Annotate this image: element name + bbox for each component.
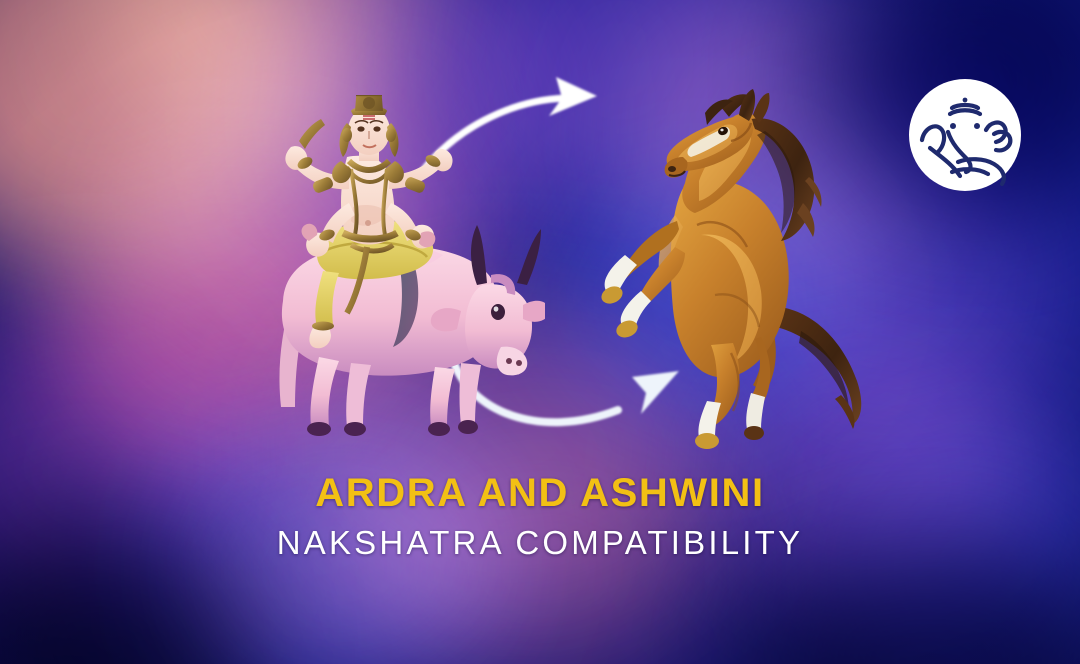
rudra-shiva-on-nandi-bull — [255, 95, 545, 445]
bull-hooves — [307, 420, 478, 436]
nakshatra-compatibility-banner: ARDRA AND ASHWINI NAKSHATRA COMPATIBILIT… — [0, 0, 1080, 664]
title-block: ARDRA AND ASHWINI NAKSHATRA COMPATIBILIT… — [0, 472, 1080, 561]
page-subtitle: NAKSHATRA COMPATIBILITY — [0, 526, 1080, 561]
rearing-horse — [565, 85, 885, 455]
ganesha-logo[interactable] — [908, 78, 1022, 192]
horse-tail — [775, 307, 861, 429]
page-title: ARDRA AND ASHWINI — [0, 472, 1080, 514]
